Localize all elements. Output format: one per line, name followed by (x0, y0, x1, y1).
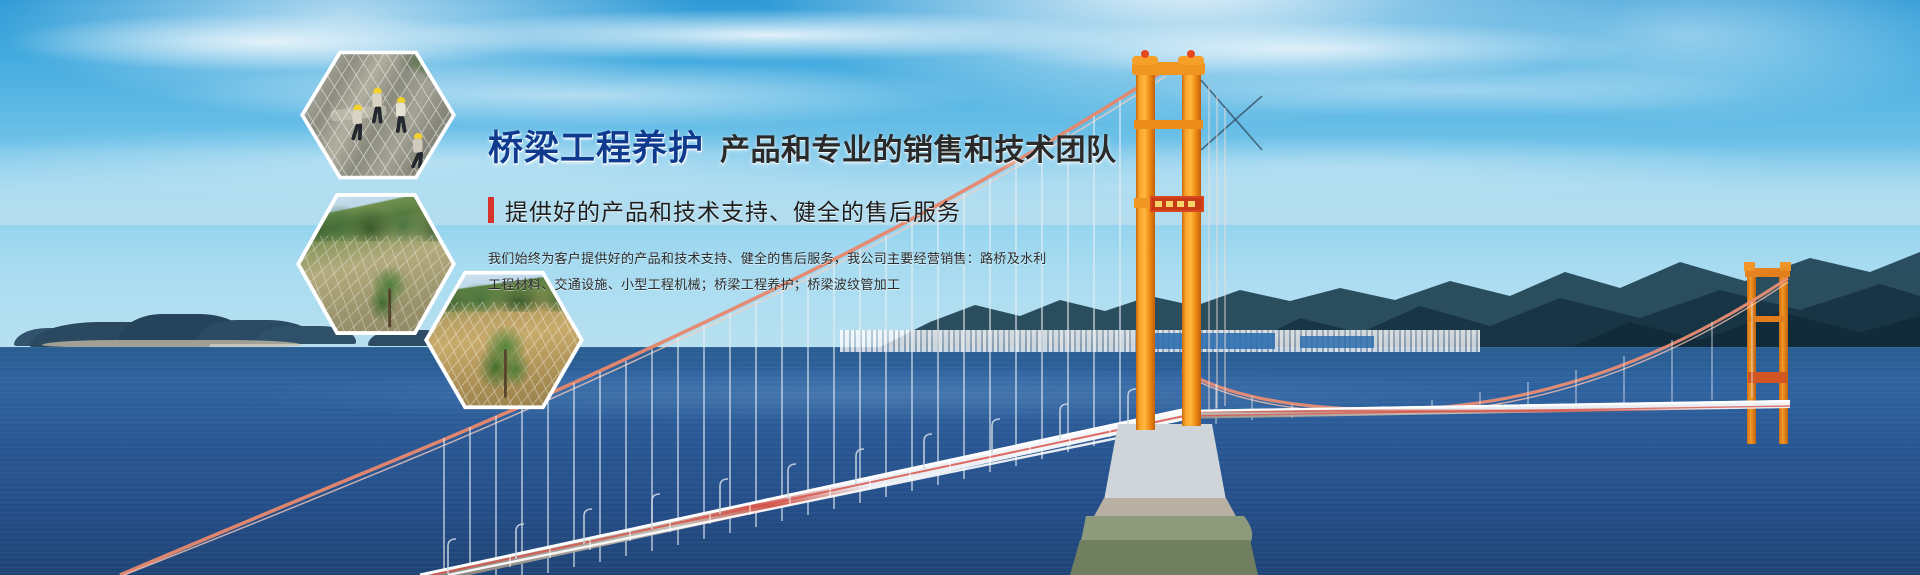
body-line-1: 我们始终为客户提供好的产品和技术支持、健全的售后服务，我公司主要经营销售：路桥及… (488, 249, 1128, 270)
shrub (364, 267, 415, 331)
body-copy: 我们始终为客户提供好的产品和技术支持、健全的售后服务，我公司主要经营销售：路桥及… (488, 249, 1128, 296)
hex-photo-1[interactable] (300, 48, 456, 182)
headline-primary: 桥梁工程养护 (488, 120, 704, 171)
shrub (474, 326, 534, 402)
hex-frame (300, 48, 456, 182)
water-shimmer (0, 360, 1920, 430)
accent-bar-icon (488, 197, 494, 223)
photo-rock-slope-mesh (304, 52, 451, 179)
hero-banner: 桥梁工程养护 产品和专业的销售和技术团队 提供好的产品和技术支持、健全的售后服务… (0, 0, 1920, 575)
headline-secondary: 产品和专业的销售和技术团队 (720, 125, 1117, 169)
body-line-2: 工程材料、交通设施、小型工程机械；桥梁工程养护；桥梁波纹管加工 (488, 275, 1128, 296)
island-beach (42, 340, 302, 347)
port-structure (1155, 333, 1275, 349)
banner-copy: 桥梁工程养护 产品和专业的销售和技术团队 提供好的产品和技术支持、健全的售后服务… (488, 120, 1128, 301)
headline-row: 桥梁工程养护 产品和专业的销售和技术团队 (488, 120, 1128, 171)
subheadline: 提供好的产品和技术支持、健全的售后服务 (505, 193, 961, 227)
subheadline-row: 提供好的产品和技术支持、健全的售后服务 (488, 193, 1128, 227)
port-structure (1300, 336, 1374, 348)
